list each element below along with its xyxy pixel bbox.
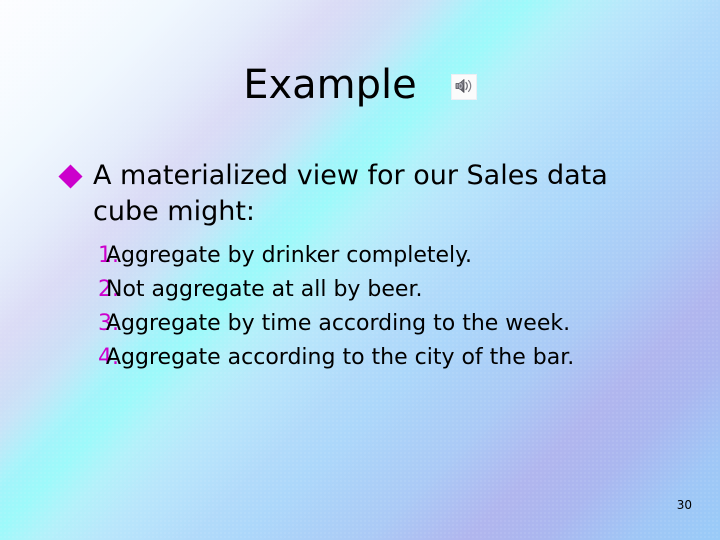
bullet-text: A materialized view for our Sales data c… <box>93 158 653 230</box>
list-item-text: Aggregate according to the city of the b… <box>106 342 574 374</box>
page-title: Example <box>243 64 417 106</box>
diamond-bullet-icon <box>58 164 82 188</box>
list-item: 4. Aggregate according to the city of th… <box>62 342 682 374</box>
list-item: 1. Aggregate by drinker completely. <box>62 240 682 272</box>
list-item-number: 2. <box>62 274 106 306</box>
list-item-number: 4. <box>62 342 106 374</box>
list-item-text: Aggregate by drinker completely. <box>106 240 472 272</box>
list-item: 2. Not aggregate at all by beer. <box>62 274 682 306</box>
slide: Example <box>0 0 720 540</box>
numbered-list: 1. Aggregate by drinker completely. 2. N… <box>62 240 682 374</box>
list-item-number: 1. <box>62 240 106 272</box>
body-content: A materialized view for our Sales data c… <box>62 158 682 376</box>
title-row: Example <box>0 64 720 106</box>
list-item-text: Not aggregate at all by beer. <box>106 274 422 306</box>
bullet-item: A materialized view for our Sales data c… <box>62 158 682 230</box>
list-item: 3. Aggregate by time according to the we… <box>62 308 682 340</box>
speaker-icon[interactable] <box>451 74 477 100</box>
page-number: 30 <box>677 498 692 512</box>
list-item-text: Aggregate by time according to the week. <box>106 308 570 340</box>
list-item-number: 3. <box>62 308 106 340</box>
